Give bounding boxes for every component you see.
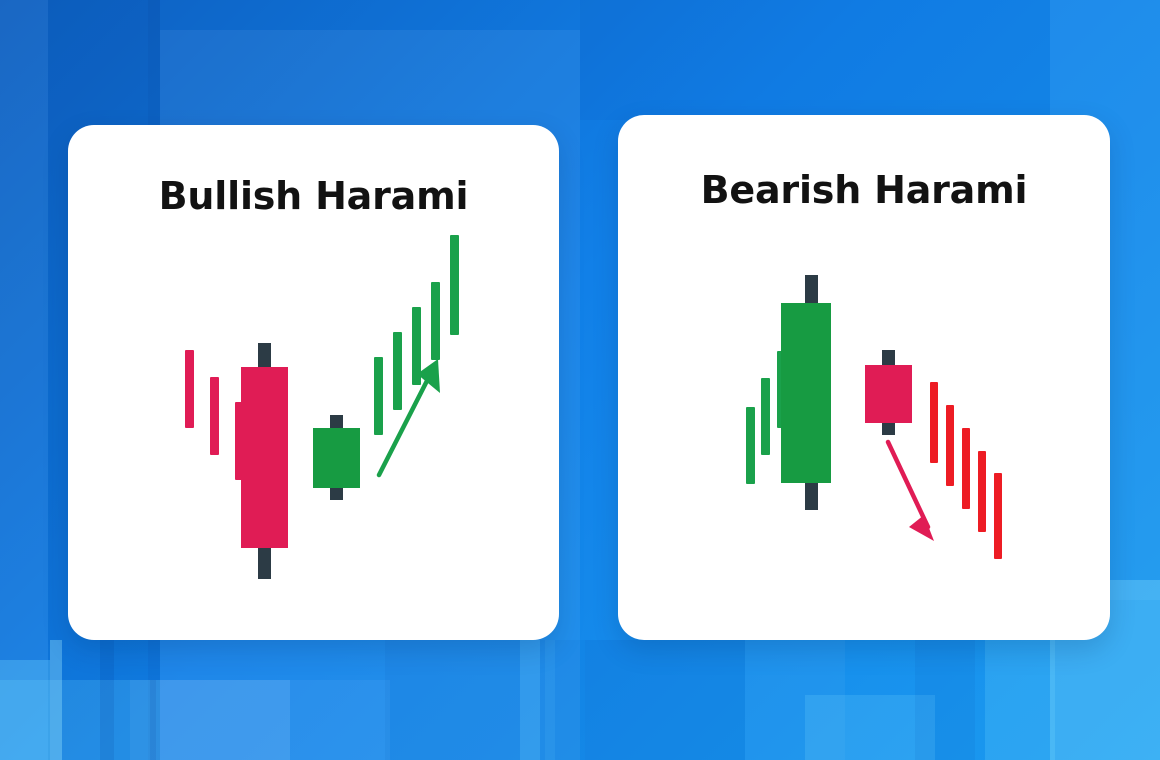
card-bearish-harami[interactable]: Bearish Harami — [618, 115, 1110, 640]
background-block — [130, 680, 390, 760]
card-bullish-harami[interactable]: Bullish Harami — [68, 125, 559, 640]
bearish-harami-illustration — [618, 115, 1110, 640]
uptrend-arrow-icon — [68, 125, 559, 640]
background-block — [385, 640, 585, 760]
poster-canvas: Bullish Harami — [0, 0, 1160, 760]
background-block — [50, 640, 62, 760]
bullish-harami-illustration — [68, 125, 559, 640]
downtrend-arrow-icon — [618, 115, 1110, 640]
background-block — [545, 640, 555, 760]
background-block — [915, 640, 975, 760]
background-block — [985, 640, 1055, 760]
background-block — [0, 0, 48, 760]
background-block — [580, 0, 1050, 120]
background-block — [585, 640, 745, 760]
background-block — [520, 640, 540, 760]
